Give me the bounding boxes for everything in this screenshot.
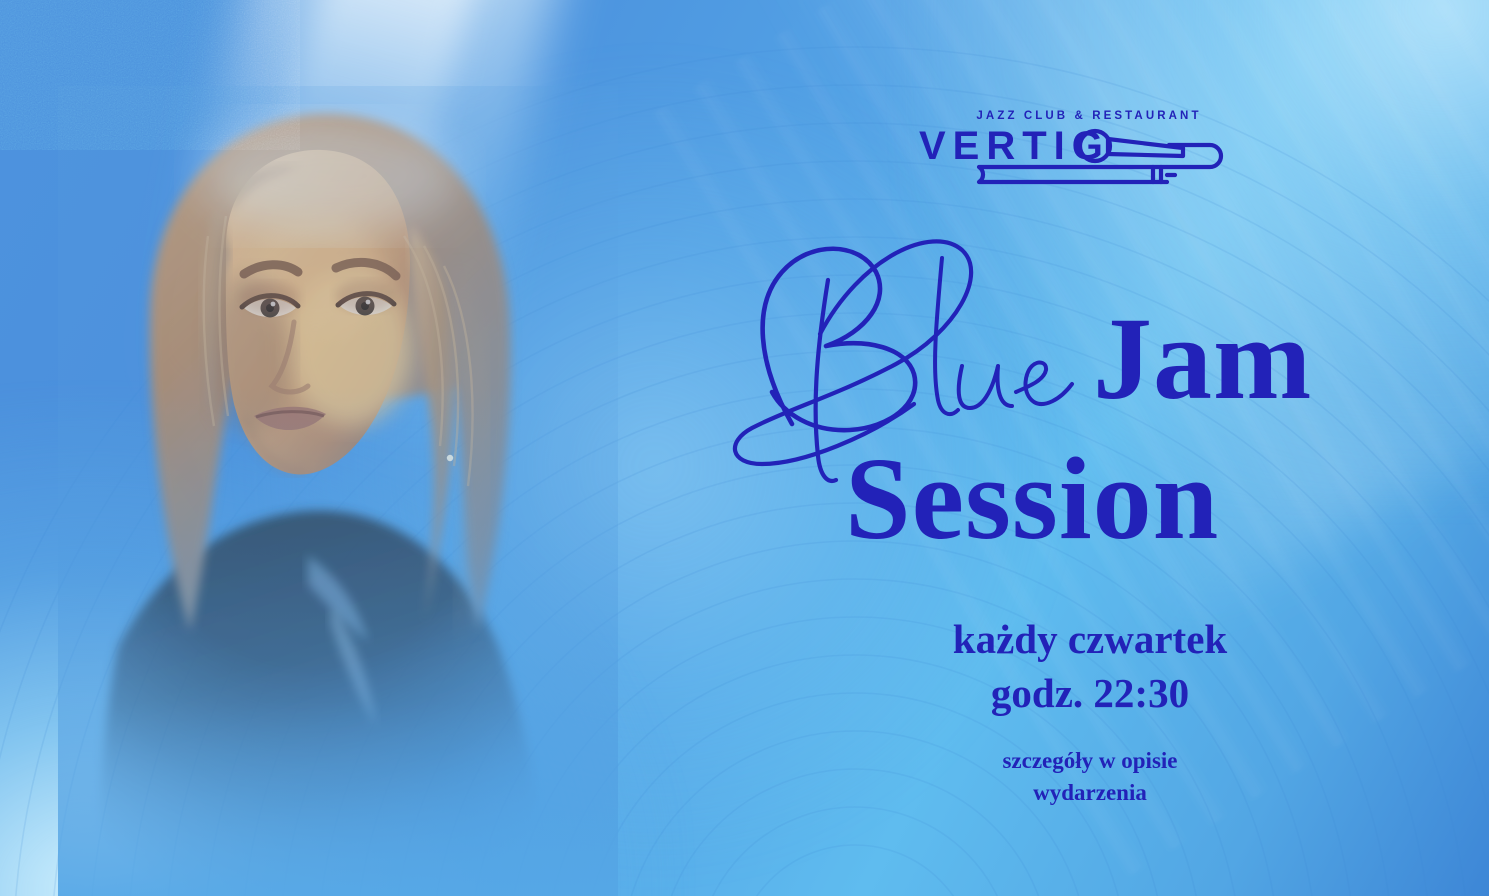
vertigo-logo[interactable]: JAZZ CLUB & RESTAURANT VERTIG xyxy=(917,110,1237,187)
event-note: szczegóły w opisie wydarzenia xyxy=(760,745,1420,809)
title-session: Session xyxy=(845,440,1219,558)
logo-wordmark-with-trombone: VERTIG xyxy=(917,125,1237,187)
event-day: każdy czwartek xyxy=(760,612,1420,666)
event-time: godz. 22:30 xyxy=(760,666,1420,720)
event-note-line-1: szczegóły w opisie xyxy=(760,745,1420,777)
event-schedule: każdy czwartek godz. 22:30 xyxy=(760,612,1420,720)
poster-canvas: JAZZ CLUB & RESTAURANT VERTIG xyxy=(0,0,1489,896)
portrait-photo xyxy=(58,86,618,896)
title-jam: Jam xyxy=(1093,300,1312,418)
event-note-line-2: wydarzenia xyxy=(760,777,1420,809)
logo-tagline: JAZZ CLUB & RESTAURANT xyxy=(941,110,1237,122)
